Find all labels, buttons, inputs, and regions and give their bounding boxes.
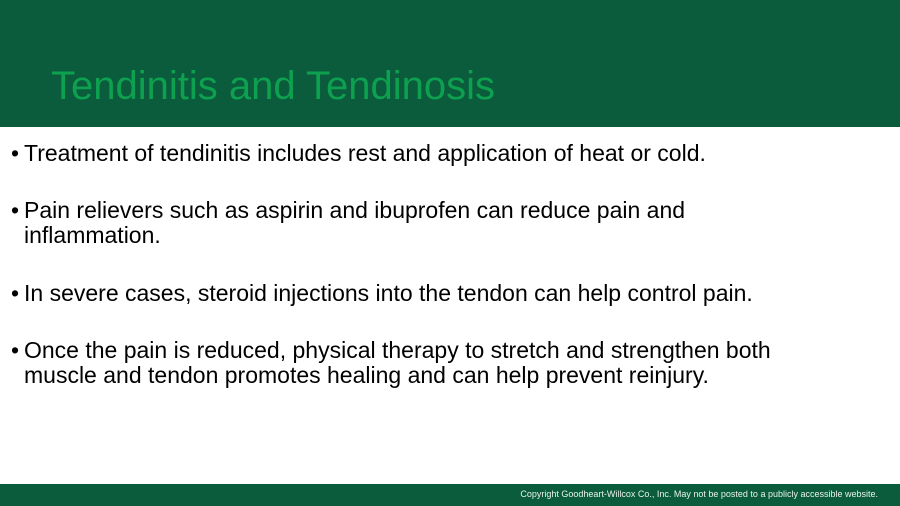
bullet-dot-icon: • <box>11 338 19 363</box>
list-item-line-1: Treatment of tendinitis includes rest an… <box>24 140 706 166</box>
list-item-line-1: In severe cases, steroid injections into… <box>24 280 753 306</box>
list-item: • Treatment of tendinitis includes rest … <box>0 141 900 166</box>
bullet-dot-icon: • <box>11 198 19 223</box>
slide-header-band: Tendinitis and Tendinosis <box>0 0 900 127</box>
slide-title: Tendinitis and Tendinosis <box>51 64 495 108</box>
list-item-text: In severe cases, steroid injections into… <box>24 281 886 306</box>
list-item: • Once the pain is reduced, physical the… <box>0 338 900 388</box>
slide-footer-band: Copyright Goodheart-Willcox Co., Inc. Ma… <box>0 484 900 506</box>
list-item-line-2: inflammation. <box>24 223 886 248</box>
list-item: • In severe cases, steroid injections in… <box>0 281 900 306</box>
copyright-notice: Copyright Goodheart-Willcox Co., Inc. Ma… <box>520 488 878 500</box>
list-item-text: Pain relievers such as aspirin and ibupr… <box>24 198 886 248</box>
bullet-dot-icon: • <box>11 141 19 166</box>
list-item-line-1: Once the pain is reduced, physical thera… <box>24 337 771 363</box>
list-item-text: Once the pain is reduced, physical thera… <box>24 338 886 388</box>
list-item: • Pain relievers such as aspirin and ibu… <box>0 198 900 248</box>
presentation-slide: Tendinitis and Tendinosis • Treatment of… <box>0 0 900 506</box>
list-item-line-2: muscle and tendon promotes healing and c… <box>24 363 886 388</box>
bullet-list: • Treatment of tendinitis includes rest … <box>0 127 900 388</box>
bullet-dot-icon: • <box>11 281 19 306</box>
list-item-text: Treatment of tendinitis includes rest an… <box>24 141 886 166</box>
list-item-line-1: Pain relievers such as aspirin and ibupr… <box>24 197 685 223</box>
slide-body: • Treatment of tendinitis includes rest … <box>0 127 900 484</box>
